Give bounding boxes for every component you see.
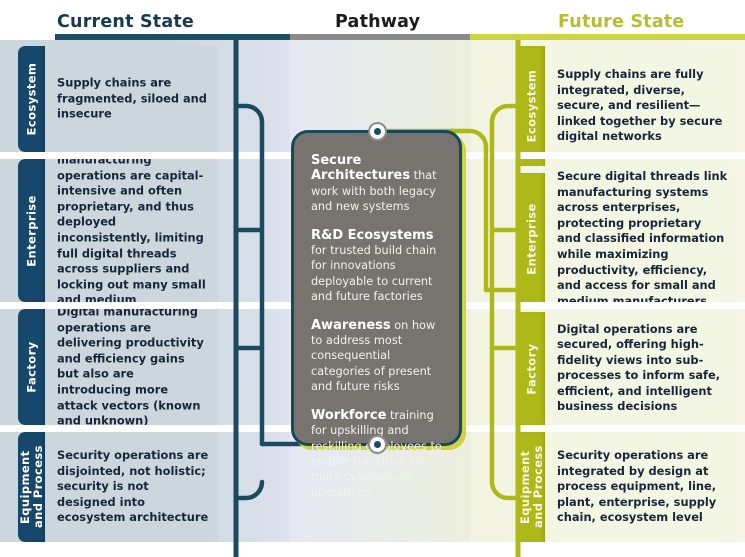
future-state-row-ecosystem: Ecosystem Supply chains are fully integr… [518,46,734,166]
row-tab-equipment-and-process: Equipment and Process [518,432,545,542]
row-text: Secure digital threads link manufacturin… [557,169,728,309]
connector-dot-top [368,122,387,141]
row-body: Security operations are integrated by de… [545,432,734,542]
row-text: Advanced and digital manufacturing opera… [57,159,210,302]
current-state-row-equipment-and-process: Equipment and Process Security operation… [18,432,218,542]
current-state-row-ecosystem: Ecosystem Supply chains are fragmented, … [18,46,218,152]
row-body: Supply chains are fully integrated, dive… [545,46,734,166]
row-body: Advanced and digital manufacturing opera… [45,159,218,302]
row-tab-label: Enterprise [525,203,538,275]
row-text: Security operations are integrated by de… [557,448,728,526]
pathway-item-heading: Workforce [311,408,386,423]
pathway-item-body: for trusted build chain for innovations … [311,244,436,303]
diagram-root: Current State Pathway Future State [0,0,745,557]
header-current-state: Current State [57,12,194,32]
pathway-item-heading: Awareness [311,318,391,333]
pathway-item-heading: R&D Ecosystems [311,228,433,243]
pathway-item: R&D Ecosystems for trusted build chain f… [311,228,447,305]
connector-dot-core [374,128,381,135]
current-state-row-enterprise: Enterprise Advanced and digital manufact… [18,159,218,302]
connector-dot-core [374,441,381,448]
row-body: Digital manufacturing operations are del… [45,309,218,425]
row-tab-label: Factory [525,343,538,394]
row-text: Digital operations are secured, offering… [557,322,728,416]
future-state-row-factory: Factory Digital operations are secured, … [518,312,734,425]
future-state-row-enterprise: Enterprise Secure digital threads link m… [518,173,734,305]
row-tab-label: Ecosystem [525,70,538,143]
pathway-box: Secure Architectures that work with both… [291,130,462,446]
future-state-row-equipment-and-process: Equipment and Process Security operation… [518,432,734,542]
header-future-state: Future State [558,12,684,32]
row-tab-ecosystem: Ecosystem [518,46,545,166]
row-tab-label: Enterprise [25,195,38,267]
pathway-item: Awareness on how to address most consequ… [311,318,447,395]
header-pathway: Pathway [335,12,420,32]
row-body: Secure digital threads link manufacturin… [545,173,734,305]
connector-dot-bottom [368,435,387,454]
row-tab-label: Factory [25,341,38,392]
pathway-item: Workforce training for upskilling and re… [311,408,447,500]
row-text: Security operations are disjointed, not … [57,448,210,526]
row-body: Digital operations are secured, offering… [545,312,734,425]
row-text: Digital manufacturing operations are del… [57,309,210,425]
row-tab-equipment-and-process: Equipment and Process [18,432,45,542]
row-tab-factory: Factory [518,312,545,425]
bottom-gutter [0,542,745,557]
current-state-row-factory: Factory Digital manufacturing operations… [18,309,218,425]
row-tab-factory: Factory [18,309,45,425]
row-tab-label: Equipment and Process [519,439,545,535]
row-tab-label: Ecosystem [25,63,38,136]
pathway-item: Secure Architectures that work with both… [311,153,447,215]
row-tab-label: Equipment and Process [19,441,45,533]
row-body: Supply chains are fragmented, siloed and… [45,46,218,152]
row-text: Supply chains are fully integrated, dive… [557,67,728,145]
row-tab-enterprise: Enterprise [518,173,545,305]
row-text: Supply chains are fragmented, siloed and… [57,76,210,123]
row-tab-enterprise: Enterprise [18,159,45,302]
pathway-item-heading: Secure Architectures [311,153,410,183]
row-body: Security operations are disjointed, not … [45,432,218,542]
row-tab-ecosystem: Ecosystem [18,46,45,152]
